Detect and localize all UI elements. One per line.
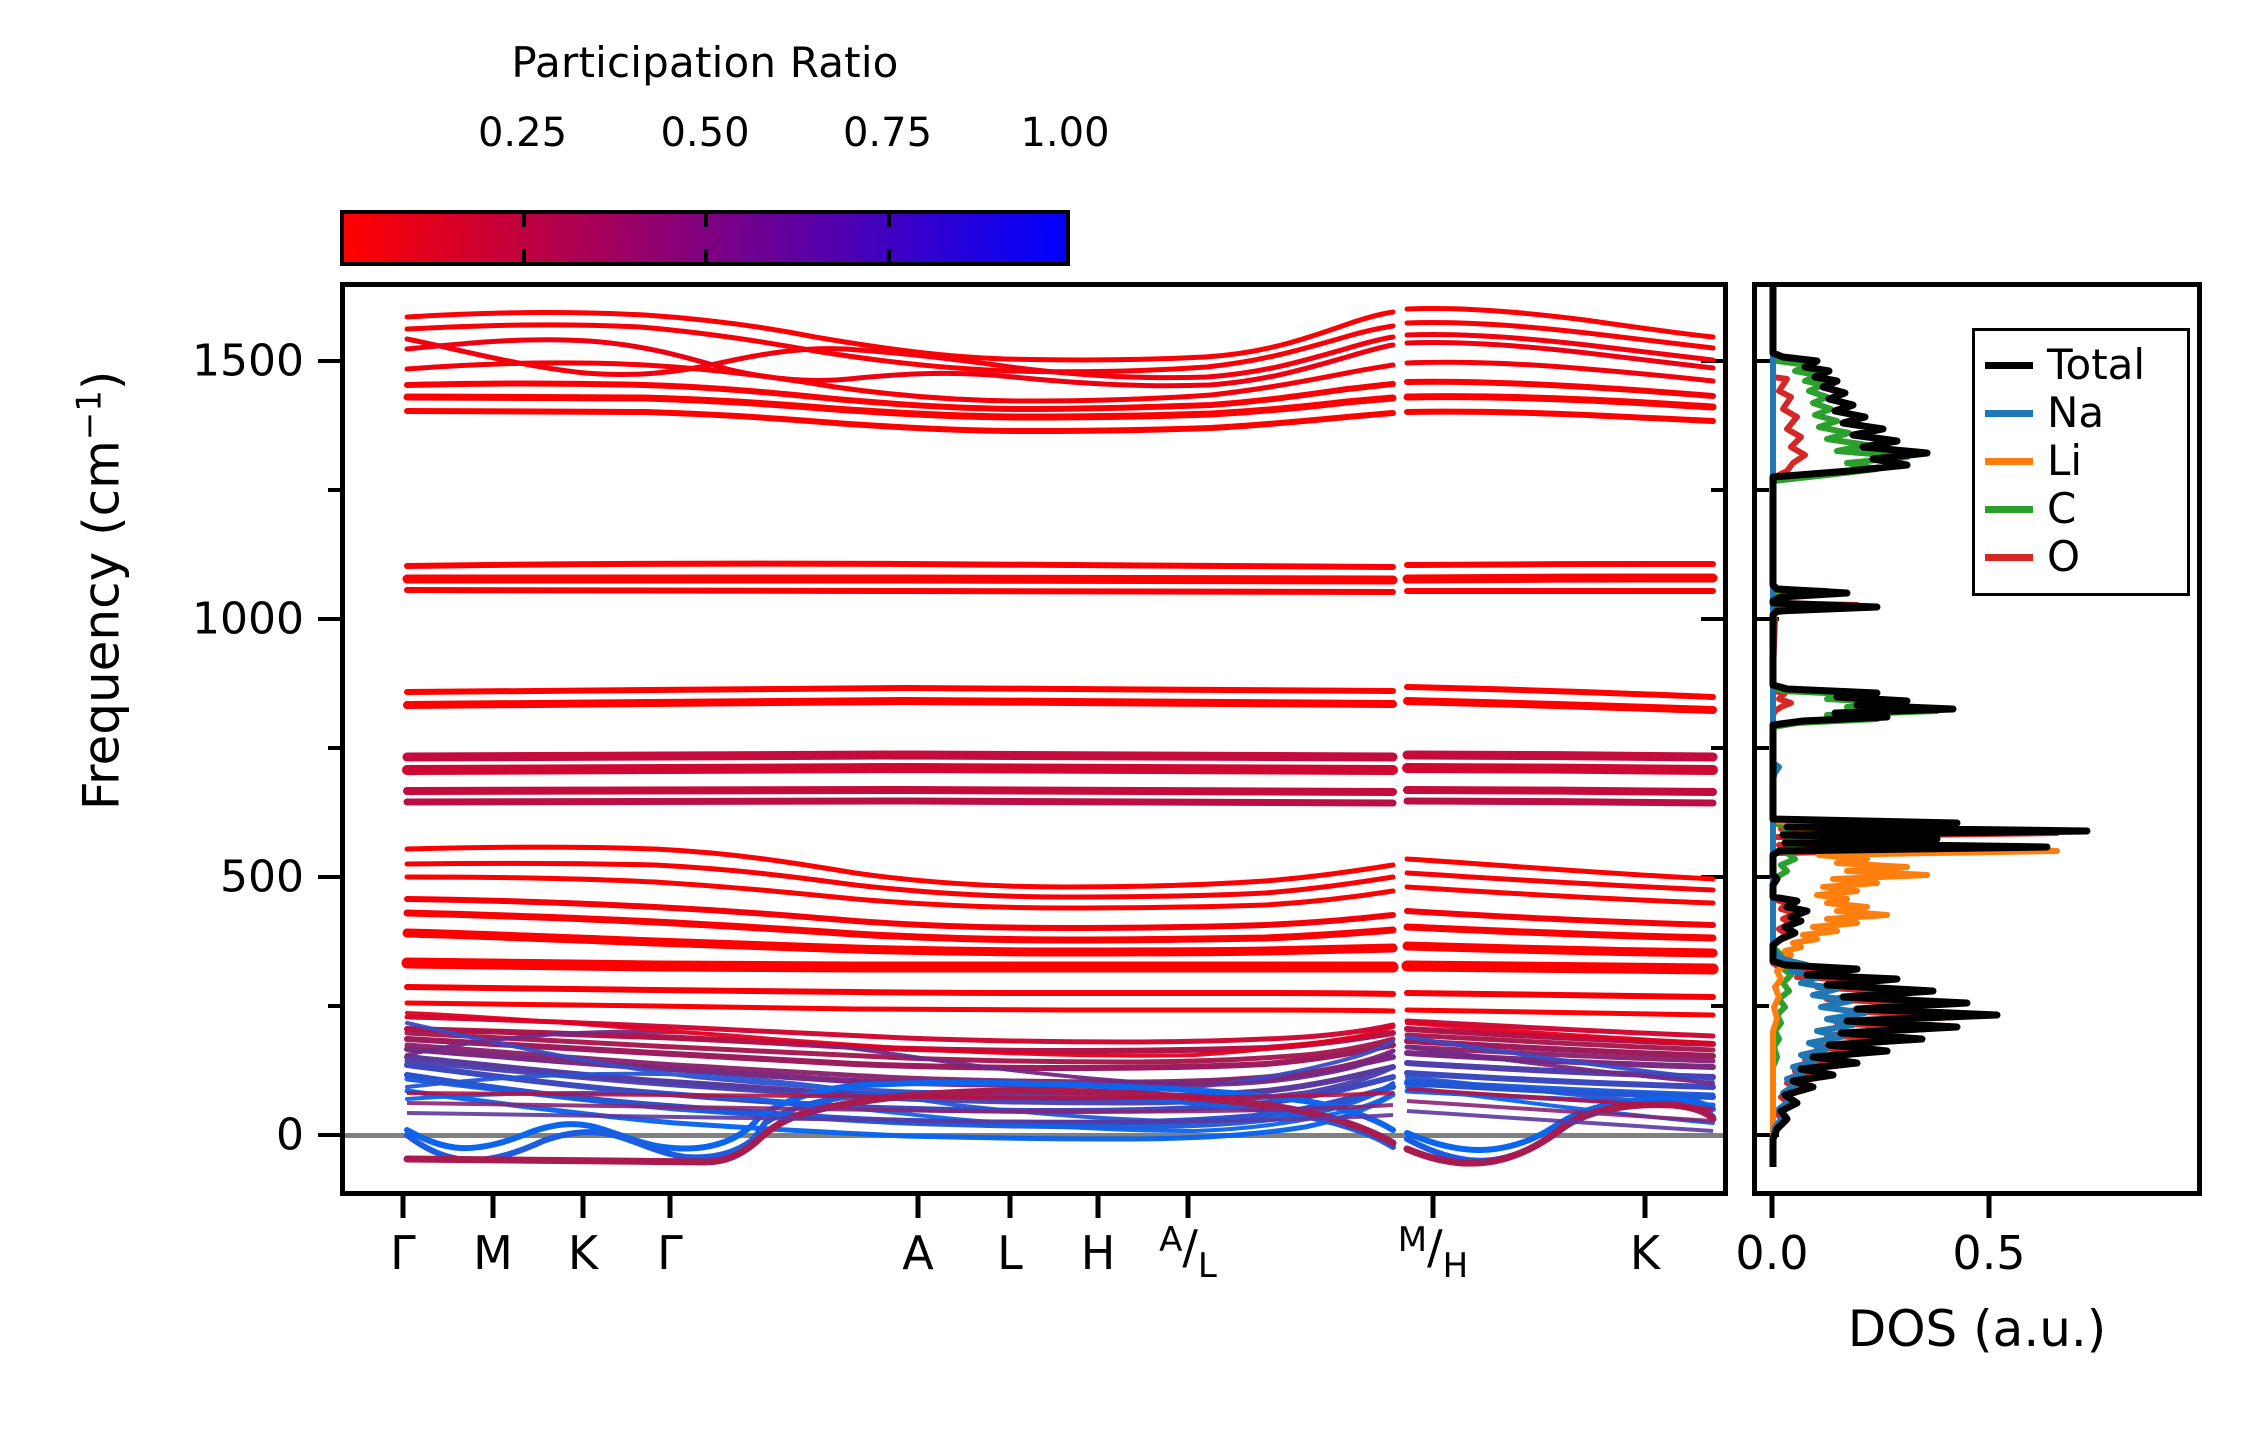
x-tick-label-a-over-l: A/L <box>1159 1220 1217 1274</box>
colorbar-tick-label-0: 0.25 <box>478 110 567 156</box>
dos-legend: Total Na Li C O <box>1972 328 2190 596</box>
y-tick-1000 <box>318 617 340 621</box>
y-tick-1500 <box>318 359 340 363</box>
legend-swatch-na <box>1985 410 2033 417</box>
x-tick-label-gamma-1: Γ <box>390 1226 416 1280</box>
colorbar-tick-1 <box>704 214 708 227</box>
y-tick-minor-1250 <box>328 488 340 492</box>
colorbar-tick-label-3: 1.00 <box>1020 110 1109 156</box>
y-tick-label-500: 500 <box>220 852 304 903</box>
legend-swatch-o <box>1985 554 2033 561</box>
x-tick-label-m-over-h: M/H <box>1398 1220 1468 1274</box>
x-tick-label-h: H <box>1081 1226 1116 1280</box>
x-tick-l <box>1008 1196 1013 1218</box>
fraction-denominator-l: L <box>1198 1246 1217 1286</box>
band-curves <box>345 287 1723 1191</box>
y-tick-minor-250 <box>328 1004 340 1008</box>
legend-swatch-li <box>1985 458 2033 465</box>
x-tick-label-m: M <box>473 1226 513 1280</box>
phonon-band-structure-panel <box>340 282 1728 1196</box>
x-tick-label-l: L <box>997 1226 1023 1280</box>
fraction-m-over-h: M/H <box>1398 1224 1468 1270</box>
x-tick-k-1 <box>581 1196 586 1218</box>
colorbar-tick-0b <box>522 249 526 262</box>
legend-entry-na: Na <box>1985 389 2175 437</box>
y-tick-minor-750 <box>328 746 340 750</box>
x-tick-label-k-2: K <box>1630 1226 1660 1280</box>
legend-swatch-total <box>1985 362 2033 369</box>
x-tick-k-2 <box>1643 1196 1648 1218</box>
y-tick-500 <box>318 875 340 879</box>
fraction-slash-1: / <box>1182 1220 1198 1274</box>
fraction-a-over-l: A/L <box>1159 1224 1217 1270</box>
dos-x-tick-label-0: 0.0 <box>1735 1226 1808 1280</box>
x-tick-h <box>1096 1196 1101 1218</box>
dos-x-tick-label-1: 0.5 <box>1952 1226 2025 1280</box>
fraction-numerator-a: A <box>1159 1220 1182 1260</box>
fraction-slash-2: / <box>1427 1220 1443 1274</box>
x-tick-a <box>916 1196 921 1218</box>
y-axis-ticks: 1500 1000 500 0 <box>0 282 340 1196</box>
y-tick-label-0: 0 <box>276 1110 304 1161</box>
fraction-numerator-m: M <box>1398 1220 1427 1260</box>
fraction-denominator-h: H <box>1443 1246 1469 1286</box>
dos-x-tick-0 <box>1770 1196 1775 1218</box>
legend-entry-c: C <box>1985 485 2175 533</box>
x-tick-a-over-l <box>1186 1196 1191 1218</box>
legend-swatch-c <box>1985 506 2033 513</box>
colorbar-tick-label-1: 0.50 <box>660 110 749 156</box>
legend-entry-o: O <box>1985 533 2175 581</box>
legend-label-o: O <box>2047 536 2080 578</box>
legend-entry-total: Total <box>1985 341 2175 389</box>
x-tick-m <box>491 1196 496 1218</box>
y-tick-label-1000: 1000 <box>192 594 304 645</box>
colorbar-tick-1b <box>704 249 708 262</box>
colorbar-title: Participation Ratio <box>340 38 1070 87</box>
x-axis-ticks: Γ M K Γ A L H A/L M/H K <box>340 1196 1728 1316</box>
colorbar-tick-label-2: 0.75 <box>843 110 932 156</box>
colorbar-tick-2b <box>887 249 891 262</box>
x-tick-gamma-1 <box>401 1196 406 1218</box>
x-tick-gamma-2 <box>668 1196 673 1218</box>
y-tick-0 <box>318 1133 340 1137</box>
dos-x-tick-1 <box>1987 1196 1992 1218</box>
legend-label-li: Li <box>2047 440 2082 482</box>
legend-label-c: C <box>2047 488 2076 530</box>
y-tick-label-1500: 1500 <box>192 336 304 387</box>
x-tick-label-k-1: K <box>568 1226 598 1280</box>
x-tick-label-a: A <box>902 1226 933 1280</box>
dos-x-axis-label: DOS (a.u.) <box>1752 1300 2202 1358</box>
x-tick-label-gamma-2: Γ <box>657 1226 683 1280</box>
colorbar-tick-labels: 0.25 0.50 0.75 1.00 <box>340 110 1070 160</box>
phonon-figure: Participation Ratio 0.25 0.50 0.75 1.00 … <box>0 0 2259 1455</box>
legend-entry-li: Li <box>1985 437 2175 485</box>
x-tick-m-over-h <box>1431 1196 1436 1218</box>
colorbar-tick-2 <box>887 214 891 227</box>
legend-label-total: Total <box>2047 344 2145 386</box>
participation-ratio-colorbar <box>340 210 1070 266</box>
colorbar-tick-0 <box>522 214 526 227</box>
legend-label-na: Na <box>2047 392 2104 434</box>
